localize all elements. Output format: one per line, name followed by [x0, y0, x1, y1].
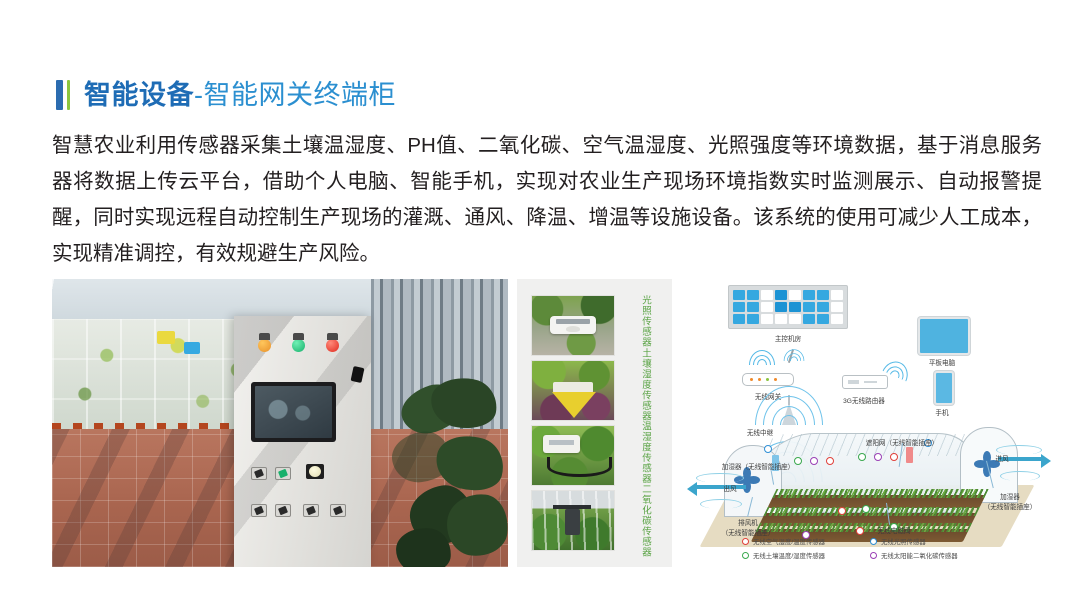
sensor-dot-air	[826, 457, 834, 465]
wifi-signal-icon	[748, 347, 776, 365]
rack-led	[775, 302, 787, 312]
legend-label-light: 无线光照传感器	[881, 537, 926, 546]
selector-switch-6	[330, 504, 346, 517]
photo-co2-sensor	[531, 490, 615, 551]
sensor-dot-co2	[810, 457, 818, 465]
system-architecture-diagram: 主控机房 无线网关 3G无线路由器 平板电脑 手机 无线中继	[686, 275, 1054, 575]
server-rack-icon	[728, 285, 848, 329]
co2-sensor-device	[565, 509, 580, 535]
selector-switch-5	[303, 504, 319, 517]
rack-led	[733, 290, 745, 300]
label-router-3g: 3G无线路由器	[843, 395, 885, 405]
rack-led	[761, 302, 773, 312]
rack-led	[817, 302, 829, 312]
photo-temp-humidity-sensor	[531, 425, 615, 486]
rack-led	[775, 290, 787, 300]
sensor-dot-co2	[874, 453, 882, 461]
sensor-photo-panel: 光照传感器 土壤湿度传感器 温湿度传感器 二氧化碳传感器	[517, 279, 672, 567]
sensor-label-light: 光照传感器	[630, 295, 660, 348]
temp-humidity-sensor-device	[543, 435, 579, 453]
light-sensor-device	[550, 316, 596, 334]
slide-root: 智能设备-智能网关终端柜 智慧农业利用传感器采集土壤温湿度、PH值、二氧化碳、空…	[0, 0, 1080, 608]
rack-led	[789, 314, 801, 324]
label-exhaust-fan-line1: 排风机	[738, 517, 758, 527]
sensor-cable	[547, 457, 612, 478]
legend-dot-co2	[870, 552, 877, 559]
rack-led	[733, 314, 745, 324]
hmi-screen-surface	[255, 386, 332, 438]
label-phone: 手机	[935, 407, 948, 417]
sensor-label-temp-humidity: 温湿度传感器	[630, 421, 660, 484]
legend-label-co2: 无线太阳能二氧化碳传感器	[881, 551, 958, 560]
pilot-lamp-white	[306, 464, 324, 479]
rack-led	[761, 314, 773, 324]
title-sub: 智能网关终端柜	[204, 80, 397, 110]
rack-led	[803, 302, 815, 312]
legend-item-air: 无线空气湿度/温度传感器	[742, 537, 870, 546]
humidifier-right-icon	[906, 447, 913, 463]
label-air-out: 出风	[723, 483, 736, 493]
sensor-label-column: 光照传感器 土壤湿度传感器 温湿度传感器 二氧化碳传感器	[630, 295, 660, 551]
title-accent-bar-secondary	[67, 80, 70, 110]
sensor-label-co2: 二氧化碳传感器	[630, 484, 660, 558]
selector-switch-1	[251, 467, 267, 480]
legend-item-co2: 无线太阳能二氧化碳传感器	[870, 551, 1042, 560]
airflow-curve	[700, 499, 742, 509]
label-humidifier-right-line1: 加湿器	[1000, 491, 1020, 501]
label-exhaust-fan-line2: （无线智能插座）	[722, 527, 775, 537]
wifi-signal-icon	[783, 347, 805, 361]
rack-led	[803, 290, 815, 300]
wifi-signal-icon	[754, 385, 824, 425]
legend-dot-light	[870, 538, 877, 545]
photo-control-cabinet	[52, 279, 508, 567]
cabinet-shadow	[234, 316, 371, 567]
router-3g-icon	[842, 375, 888, 389]
sensor-dot-soil	[858, 453, 866, 461]
soil-moisture-sensor-device	[553, 382, 592, 393]
sensor-dot-soil	[794, 457, 802, 465]
label-humidifier-left: 加湿器（无线智能插座）	[722, 461, 795, 471]
sensor-photo-column	[531, 295, 615, 551]
body-paragraph: 智慧农业利用传感器采集土壤温湿度、PH值、二氧化碳、空气温湿度、光照强度等环境数…	[52, 128, 1042, 272]
rack-led	[831, 290, 843, 300]
sensor-dot-light	[764, 445, 772, 453]
photo-soil-moisture-sensor	[531, 360, 615, 421]
page-title: 智能设备-智能网关终端柜	[56, 78, 396, 112]
legend-dot-air	[742, 538, 749, 545]
legend-label-soil: 无线土壤温度/湿度传感器	[753, 551, 825, 560]
legend-item-soil: 无线土壤温度/湿度传感器	[742, 551, 870, 560]
sensor-dot-soil	[862, 505, 870, 513]
air-out-arrow	[696, 485, 746, 489]
airflow-curve	[696, 473, 744, 483]
rack-led	[789, 302, 801, 312]
sensor-label-soil-moisture: 土壤湿度传感器	[630, 348, 660, 422]
label-humidifier-right-line2: （无线智能插座）	[984, 501, 1037, 511]
rack-accent-yellow	[157, 331, 175, 344]
title-accent-bar-primary	[56, 80, 63, 110]
foreground-foliage	[399, 374, 508, 567]
rack-led	[789, 290, 801, 300]
indicator-light-green	[292, 339, 305, 352]
rack-led	[733, 302, 745, 312]
rack-led	[775, 314, 787, 324]
legend-label-air: 无线空气湿度/温度传感器	[753, 537, 825, 546]
title-text: 智能设备-智能网关终端柜	[84, 80, 396, 110]
indicator-light-orange	[258, 339, 271, 352]
sensor-dot-air	[890, 453, 898, 461]
selector-switch-4	[275, 504, 291, 517]
rack-led	[831, 314, 843, 324]
tablet-icon	[918, 317, 970, 355]
photo-light-sensor	[531, 295, 615, 356]
rack-led	[747, 290, 759, 300]
sensor-dot-air	[856, 527, 864, 535]
title-main: 智能设备	[84, 80, 194, 110]
label-server-room: 主控机房	[775, 333, 801, 343]
diagram-legend: 无线空气湿度/温度传感器 无线光照传感器 无线土壤温度/湿度传感器 无线太阳能二…	[742, 537, 1042, 560]
selector-switch-2	[275, 467, 291, 480]
rack-led	[761, 290, 773, 300]
indicator-light-red	[326, 339, 339, 352]
hmi-touchscreen	[251, 382, 336, 442]
legend-item-light: 无线光照传感器	[870, 537, 1042, 546]
planting-beds	[750, 495, 985, 543]
legend-dot-soil	[742, 552, 749, 559]
control-cabinet	[234, 316, 371, 567]
rack-led	[817, 290, 829, 300]
label-solenoid-valve: 无线电磁阀	[878, 525, 911, 535]
sensor-dot-air	[838, 507, 846, 515]
rack-accent-blue	[184, 342, 200, 354]
label-air-in: 进风	[995, 453, 1008, 463]
label-tablet: 平板电脑	[929, 357, 955, 367]
rack-led	[803, 314, 815, 324]
selector-switch-3	[251, 504, 267, 517]
rack-led	[747, 314, 759, 324]
rack-led	[831, 302, 843, 312]
rack-led	[817, 314, 829, 324]
airflow-curve	[1000, 471, 1040, 481]
phone-icon	[934, 371, 954, 405]
image-band: 光照传感器 土壤湿度传感器 温湿度传感器 二氧化碳传感器 主控机房 无线网关	[0, 279, 1080, 569]
title-dash: -	[194, 80, 204, 110]
rack-led	[747, 302, 759, 312]
